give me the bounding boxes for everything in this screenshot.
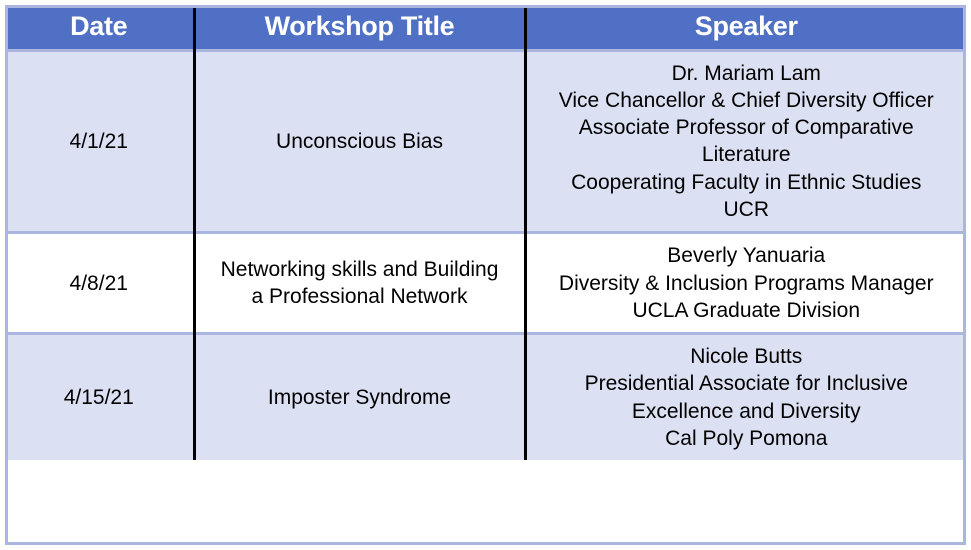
header-row: Date Workshop Title Speaker (5, 5, 966, 50)
speaker-line: Dr. Mariam Lam (533, 60, 961, 87)
cell-date: 4/15/21 (5, 334, 194, 461)
table-row: 4/8/21 Networking skills and Building a … (5, 233, 966, 334)
cell-date: 4/8/21 (5, 233, 194, 334)
speaker-line: Vice Chancellor & Chief Diversity Office… (533, 87, 961, 114)
speaker-line: Beverly Yanuaria (533, 242, 961, 269)
cell-workshop-title: Unconscious Bias (194, 50, 525, 233)
cell-speaker: Dr. Mariam Lam Vice Chancellor & Chief D… (525, 50, 966, 233)
table-row: 4/1/21 Unconscious Bias Dr. Mariam Lam V… (5, 50, 966, 233)
title-line: Networking skills and Building (202, 256, 518, 283)
speaker-line: Cal Poly Pomona (533, 425, 961, 452)
cell-speaker: Beverly Yanuaria Diversity & Inclusion P… (525, 233, 966, 334)
speaker-line: Cooperating Faculty in Ethnic Studies (533, 169, 961, 196)
speaker-line: Presidential Associate for Inclusive (533, 370, 961, 397)
title-line: a Professional Network (202, 283, 518, 310)
table-body: 4/1/21 Unconscious Bias Dr. Mariam Lam V… (5, 50, 966, 460)
column-header-workshop-title: Workshop Title (194, 5, 525, 50)
schedule-page: Date Workshop Title Speaker 4/1/21 Uncon… (0, 0, 971, 550)
speaker-line: Nicole Butts (533, 343, 961, 370)
table-row: 4/15/21 Imposter Syndrome Nicole Butts P… (5, 334, 966, 461)
speaker-line: Literature (533, 141, 961, 168)
cell-workshop-title: Imposter Syndrome (194, 334, 525, 461)
title-line: Imposter Syndrome (202, 384, 518, 411)
speaker-line: Excellence and Diversity (533, 398, 961, 425)
column-header-date: Date (5, 5, 194, 50)
cell-speaker: Nicole Butts Presidential Associate for … (525, 334, 966, 461)
title-line: Unconscious Bias (202, 128, 518, 155)
column-header-speaker: Speaker (525, 5, 966, 50)
table-header: Date Workshop Title Speaker (5, 5, 966, 50)
cell-date: 4/1/21 (5, 50, 194, 233)
speaker-line: Associate Professor of Comparative (533, 114, 961, 141)
cell-workshop-title: Networking skills and Building a Profess… (194, 233, 525, 334)
workshop-schedule-table: Date Workshop Title Speaker 4/1/21 Uncon… (5, 5, 966, 460)
speaker-line: UCLA Graduate Division (533, 297, 961, 324)
speaker-line: Diversity & Inclusion Programs Manager (533, 270, 961, 297)
speaker-line: UCR (533, 196, 961, 223)
